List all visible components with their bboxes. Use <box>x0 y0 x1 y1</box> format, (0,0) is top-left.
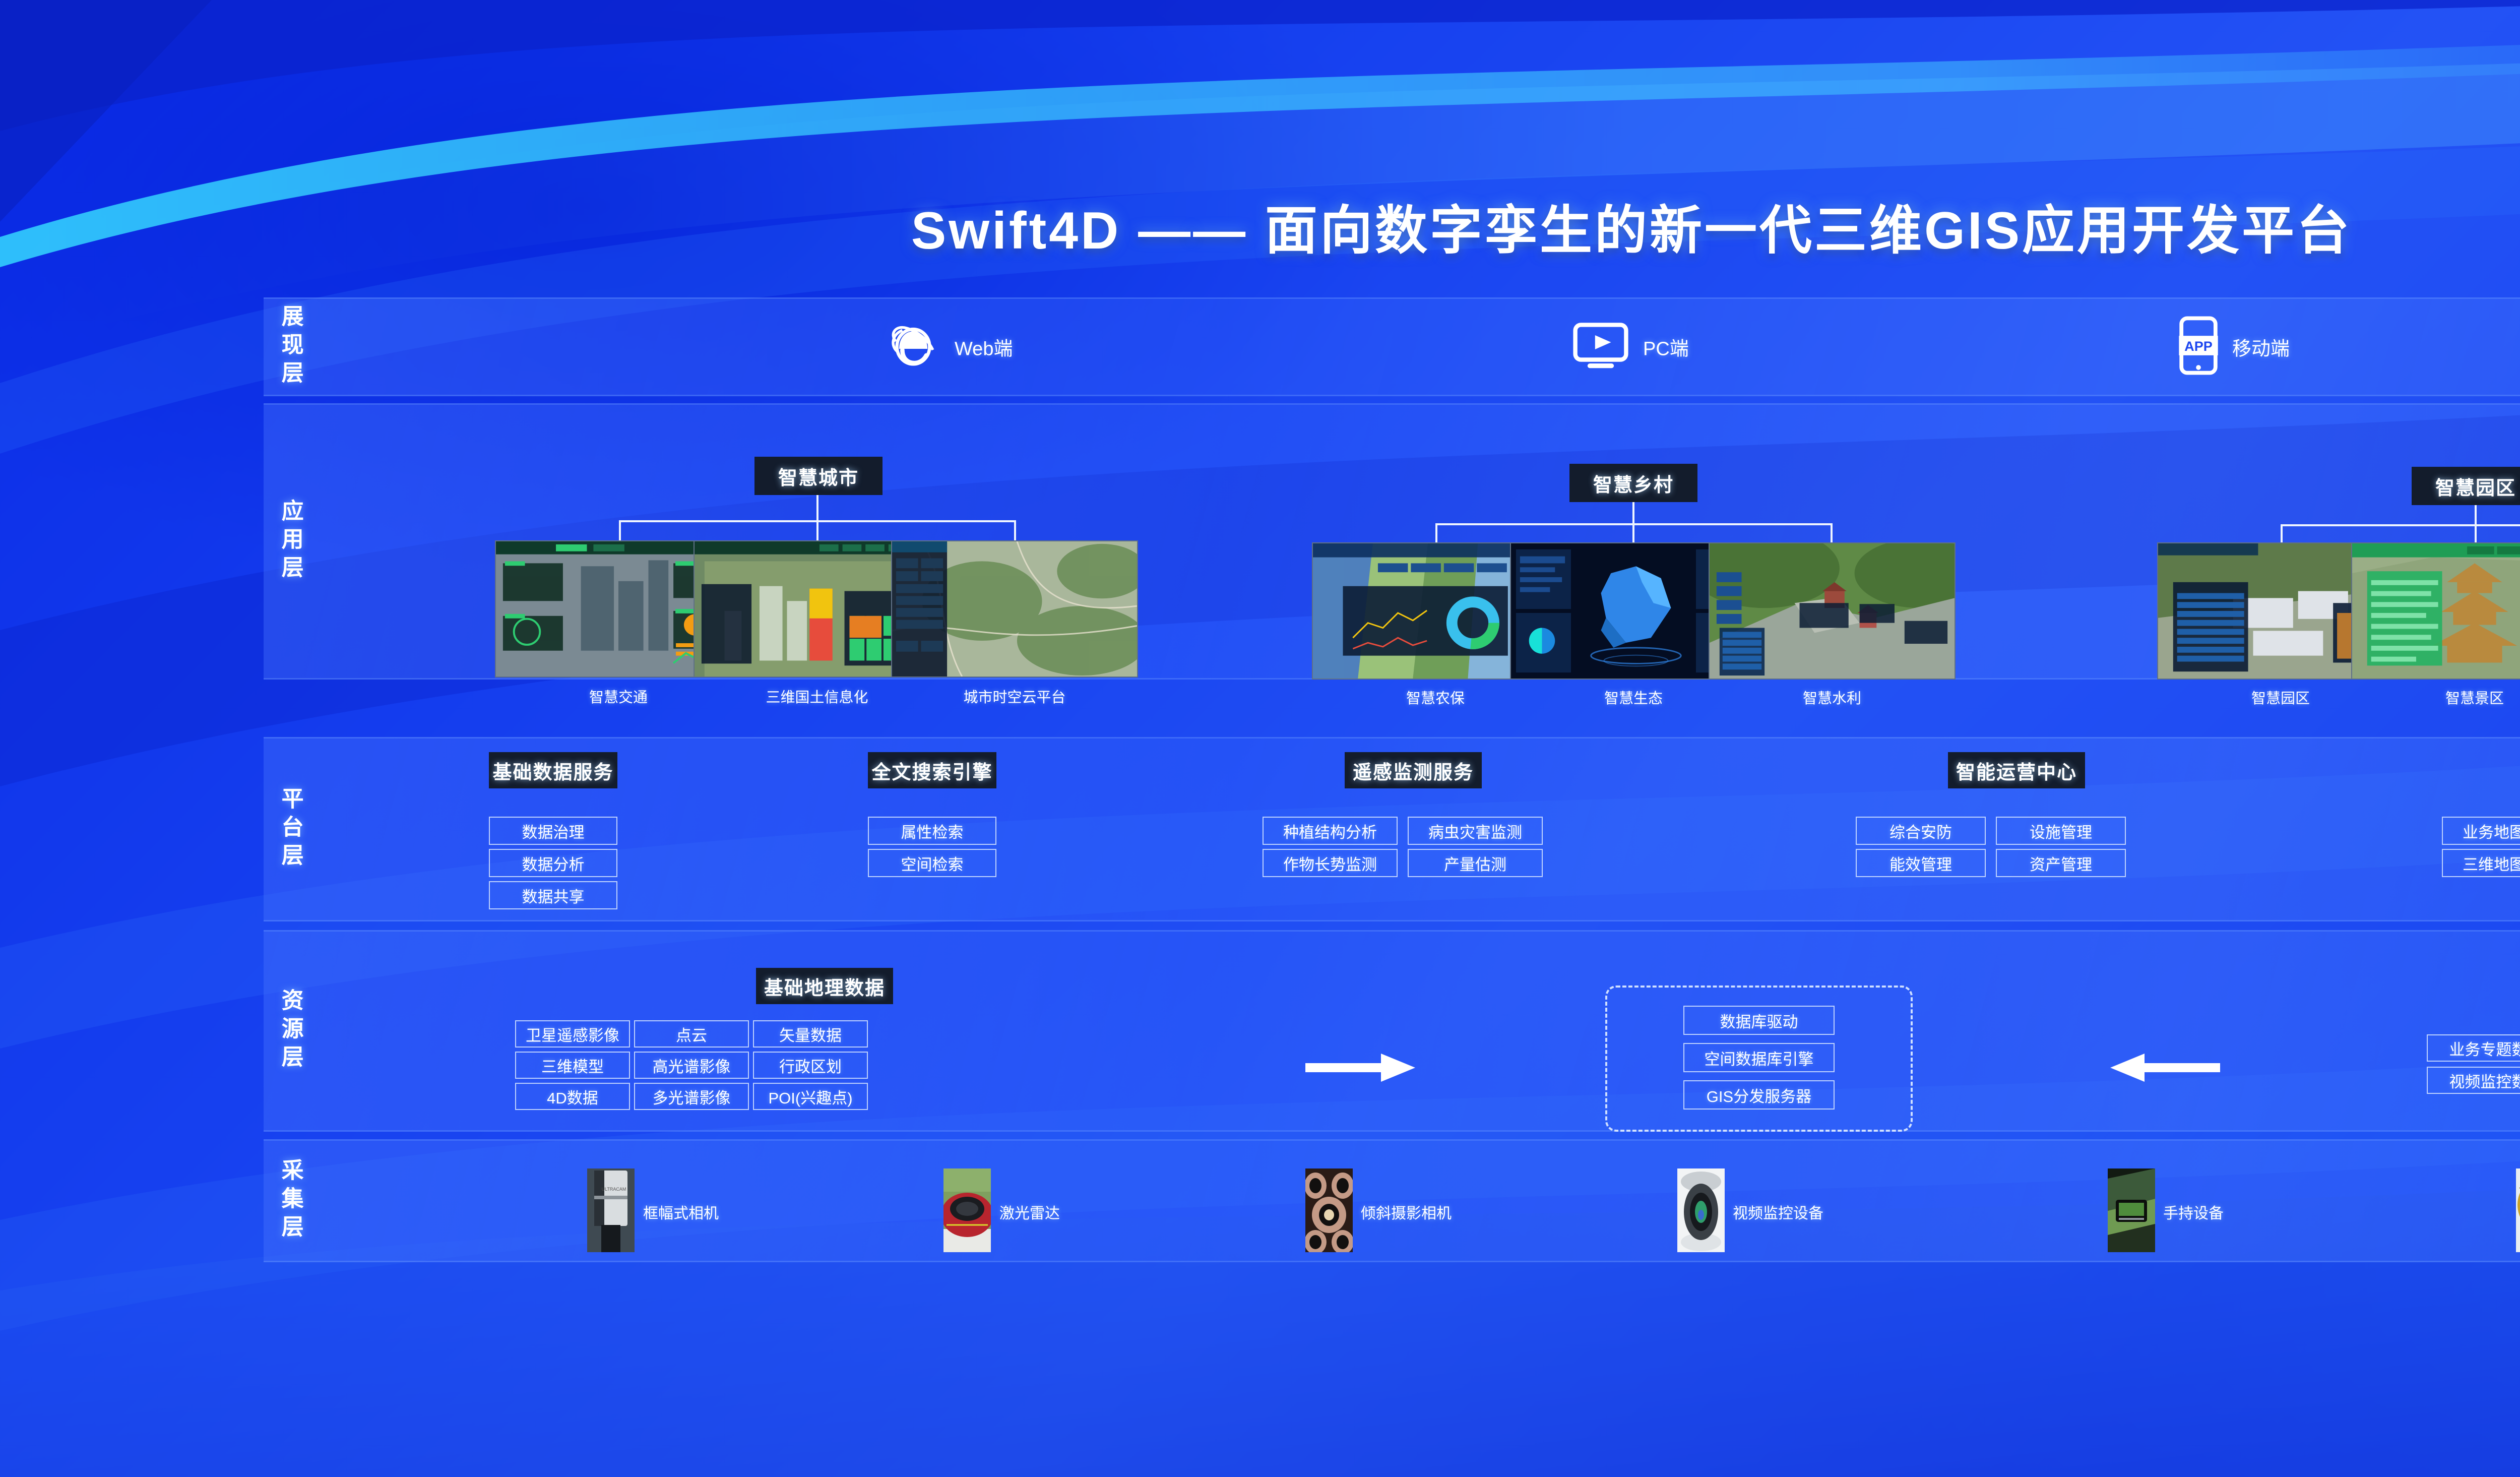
platform-item-integrated-security[interactable]: 综合安防 <box>1856 817 1986 845</box>
oblique-camera-photo <box>1305 1168 1353 1252</box>
resource-item-hyperspectral-imagery[interactable]: 高光谱影像 <box>634 1052 749 1079</box>
monitor-play-icon <box>1572 322 1629 373</box>
connector-drop-smart-park-2 <box>2475 524 2477 542</box>
presentation-item-pc[interactable]: PC端 <box>1572 322 1689 373</box>
cctv-dome-photo <box>1677 1168 1725 1252</box>
presentation-item-mobile[interactable]: APP 移动端 <box>2179 317 2290 378</box>
app-thumbnail-city-spacetime-cloud[interactable] <box>891 540 1138 678</box>
connector-drop-smart-village-3 <box>1831 523 1833 542</box>
platform-group-title-remote-sensing[interactable]: 遥感监测服务 <box>1345 752 1482 788</box>
platform-item-business-map-service[interactable]: 业务地图服务 <box>2442 817 2520 845</box>
lidar-photo <box>943 1168 991 1252</box>
architecture-diagram: Swift4D —— 面向数字孪生的新一代三维GIS应用开发平台 展现层 <box>0 0 2520 1477</box>
presentation-label-mobile: 移动端 <box>2232 333 2290 361</box>
svg-text:APP: APP <box>2184 339 2213 354</box>
platform-item-data-analysis[interactable]: 数据分析 <box>489 849 617 877</box>
tier-label-application: 应用层 <box>264 405 317 678</box>
resource-group-title-basic-geographic-data[interactable]: 基础地理数据 <box>756 968 893 1004</box>
frame-camera-photo: ULTRACAM <box>587 1168 635 1252</box>
tier-label-presentation: 展现层 <box>264 299 317 395</box>
app-caption-smart-water: 智慧水利 <box>1709 687 1956 708</box>
platform-item-energy-efficiency-management[interactable]: 能效管理 <box>1856 849 1986 877</box>
app-caption-city-spacetime-cloud: 城市时空云平台 <box>891 686 1138 707</box>
connector-stem-smart-village <box>1632 502 1634 525</box>
resource-item-satellite-imagery[interactable]: 卫星遥感影像 <box>515 1020 630 1048</box>
resource-item-point-cloud[interactable]: 点云 <box>634 1020 749 1048</box>
internet-explorer-icon <box>886 319 940 376</box>
sensor-photo <box>2516 1168 2520 1252</box>
connector-drop-smart-city-2 <box>816 520 818 540</box>
connector-drop-smart-park-1 <box>2281 524 2283 542</box>
resource-item-3d-model[interactable]: 三维模型 <box>515 1052 630 1079</box>
arrow-left-to-center <box>1305 1053 1416 1083</box>
resource-item-multispectral-imagery[interactable]: 多光谱影像 <box>634 1083 749 1110</box>
connector-drop-smart-village-2 <box>1632 523 1634 542</box>
resource-item-vector-data[interactable]: 矢量数据 <box>753 1020 868 1048</box>
app-group-title-smart-park[interactable]: 智慧园区 <box>2412 467 2520 505</box>
resource-item-gis-distribution-server[interactable]: GIS分发服务器 <box>1683 1080 1835 1110</box>
app-caption-smart-scenic: 智慧景区 <box>2351 687 2520 708</box>
resource-item-4d-data[interactable]: 4D数据 <box>515 1083 630 1110</box>
collection-label-oblique-camera: 倾斜摄影相机 <box>1361 1201 1452 1223</box>
platform-item-yield-estimation[interactable]: 产量估测 <box>1408 849 1543 877</box>
resource-item-video-surveillance-data[interactable]: 视频监控数据 <box>2427 1067 2520 1094</box>
presentation-label-web: Web端 <box>955 333 1013 361</box>
presentation-label-pc: PC端 <box>1643 333 1689 361</box>
resource-item-database-driver[interactable]: 数据库驱动 <box>1683 1006 1835 1035</box>
resource-item-spatial-db-engine[interactable]: 空间数据库引擎 <box>1683 1043 1835 1072</box>
platform-group-title-intelligent-ops-center[interactable]: 智能运营中心 <box>1948 752 2085 788</box>
collection-label-lidar: 激光雷达 <box>999 1201 1060 1223</box>
tier-label-resource: 资源层 <box>264 932 317 1130</box>
platform-item-asset-management[interactable]: 资产管理 <box>1996 849 2126 877</box>
platform-item-planting-structure-analysis[interactable]: 种植结构分析 <box>1263 817 1398 845</box>
platform-item-pest-disaster-monitoring[interactable]: 病虫灾害监测 <box>1408 817 1543 845</box>
app-thumbnail-smart-water[interactable] <box>1709 542 1956 680</box>
presentation-item-web[interactable]: Web端 <box>886 319 1013 376</box>
platform-item-data-governance[interactable]: 数据治理 <box>489 817 617 845</box>
resource-item-administrative-division[interactable]: 行政区划 <box>753 1052 868 1079</box>
connector-stem-smart-city <box>816 495 818 521</box>
app-phone-icon: APP <box>2179 317 2218 378</box>
connector-bar-smart-park <box>2281 524 2520 526</box>
connector-stem-smart-park <box>2475 505 2477 526</box>
connector-drop-smart-city-3 <box>1014 520 1016 540</box>
platform-item-crop-growth-monitoring[interactable]: 作物长势监测 <box>1263 849 1398 877</box>
connector-drop-smart-village-1 <box>1435 523 1437 542</box>
layer-band-presentation: 展现层 Web端 <box>264 297 2520 396</box>
app-group-title-smart-village[interactable]: 智慧乡村 <box>1569 464 1697 502</box>
app-group-title-smart-city[interactable]: 智慧城市 <box>754 457 883 495</box>
platform-item-3d-map-service[interactable]: 三维地图服务 <box>2442 849 2520 877</box>
resource-item-business-thematic-data[interactable]: 业务专题数据 <box>2427 1034 2520 1062</box>
app-thumbnail-smart-scenic[interactable] <box>2351 542 2520 680</box>
platform-group-title-fulltext-search[interactable]: 全文搜索引擎 <box>868 752 996 788</box>
tier-label-collection: 采集层 <box>264 1141 317 1261</box>
resource-item-poi[interactable]: POI(兴趣点) <box>753 1083 868 1110</box>
handheld-device-photo <box>2108 1168 2155 1252</box>
platform-item-attribute-search[interactable]: 属性检索 <box>868 817 996 845</box>
collection-label-handheld: 手持设备 <box>2163 1201 2224 1223</box>
collection-label-frame-camera: 框幅式相机 <box>643 1201 719 1223</box>
platform-item-data-sharing[interactable]: 数据共享 <box>489 881 617 909</box>
page-title: Swift4D —— 面向数字孪生的新一代三维GIS应用开发平台 <box>0 188 2520 264</box>
platform-group-title-basic-data-service[interactable]: 基础数据服务 <box>489 752 617 788</box>
connector-drop-smart-city-1 <box>619 520 621 540</box>
collection-label-cctv: 视频监控设备 <box>1733 1201 1823 1223</box>
svg-text:ULTRACAM: ULTRACAM <box>602 1187 626 1192</box>
platform-item-facility-management[interactable]: 设施管理 <box>1996 817 2126 845</box>
arrow-right-to-center <box>2109 1053 2220 1083</box>
platform-item-spatial-search[interactable]: 空间检索 <box>868 849 996 877</box>
tier-label-platform: 平台层 <box>264 738 317 920</box>
